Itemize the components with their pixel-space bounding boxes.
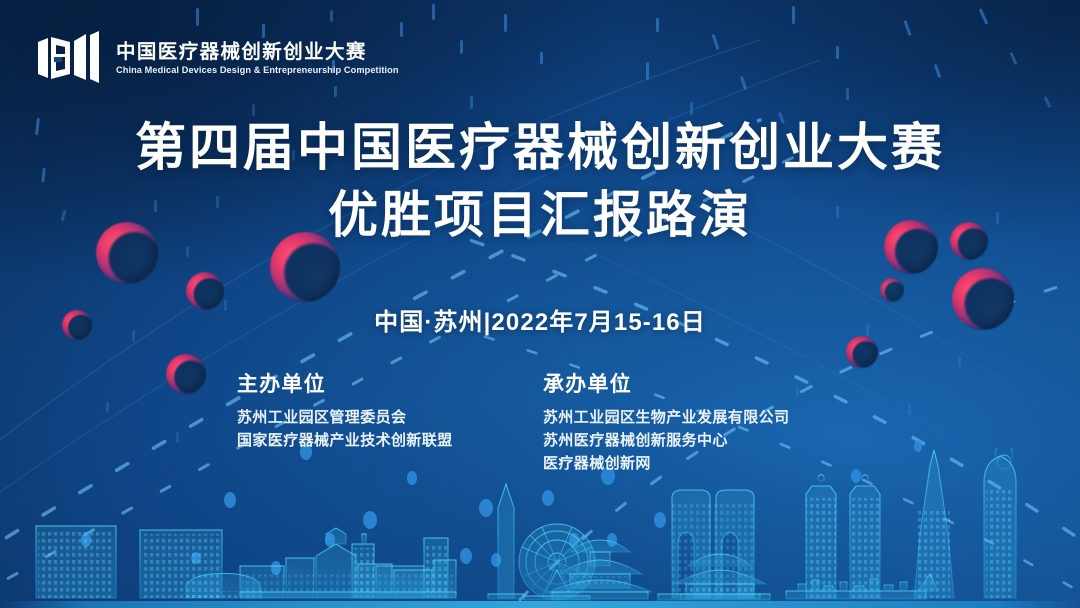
organizer-item: 苏州工业园区管理委员会: [237, 407, 537, 430]
open-door-window-mark: [36, 28, 102, 88]
organizer-heading-host: 主办单位: [237, 368, 537, 398]
organizer-item: 苏州工业园区生物产业发展有限公司: [543, 407, 843, 430]
date-location-bar: 中国·苏州|2022年7月15-16日: [0, 302, 1080, 337]
organizer-column-coorganizer: 承办单位 苏州工业园区生物产业发展有限公司 苏州医疗器械创新服务中心 医疗器械创…: [543, 368, 843, 475]
competition-logo: 中国医疗器械创新创业大赛 China Medical Devices Desig…: [36, 28, 399, 88]
organizer-item: 国家医疗器械产业技术创新联盟: [237, 430, 537, 453]
organizer-column-host: 主办单位 苏州工业园区管理委员会 国家医疗器械产业技术创新联盟: [237, 368, 537, 475]
title-line-1: 第四届中国医疗器械创新创业大赛: [0, 118, 1080, 178]
organizers-block: 主办单位 苏州工业园区管理委员会 国家医疗器械产业技术创新联盟 承办单位 苏州工…: [0, 368, 1080, 475]
logo-subtitle-en: China Medical Devices Design & Entrepren…: [116, 65, 399, 75]
organizer-item: 医疗器械创新网: [543, 453, 843, 476]
poster-title-block: 第四届中国医疗器械创新创业大赛 优胜项目汇报路演: [0, 118, 1080, 245]
event-poster: 中国医疗器械创新创业大赛 China Medical Devices Desig…: [0, 0, 1080, 608]
title-line-2: 优胜项目汇报路演: [0, 186, 1080, 245]
logo-title-cn: 中国医疗器械创新创业大赛: [116, 41, 399, 63]
organizer-item: 苏州医疗器械创新服务中心: [543, 430, 843, 453]
organizer-heading-coorganizer: 承办单位: [543, 368, 843, 398]
